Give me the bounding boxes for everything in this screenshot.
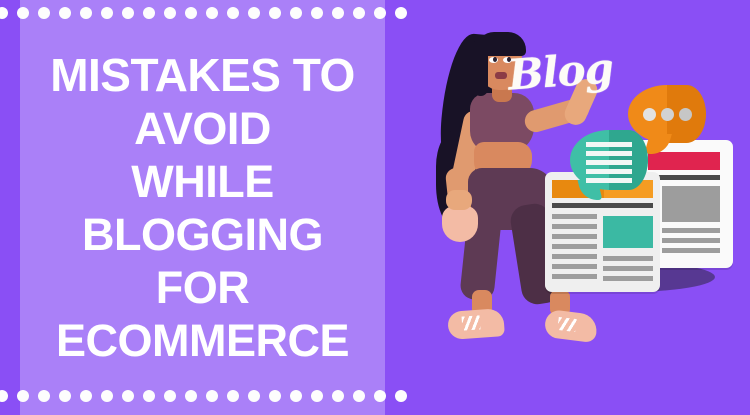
front-card-image-block [603,216,653,248]
border-dot [311,7,323,19]
border-dot [17,7,29,19]
border-dot [101,390,113,402]
headline-text-block: MISTAKES TO AVOID WHILE BLOGGING FOR ECO… [20,0,385,415]
headline-line-1: MISTAKES TO [50,49,355,102]
mouth [495,72,507,79]
border-dot [185,390,197,402]
blog-script-word: Blog [506,43,614,99]
headline-line-6: ECOMMERCE [56,314,349,367]
front-card-text-line [603,256,653,261]
border-dot [122,7,134,19]
front-card-text-line [603,276,653,281]
border-dot [206,7,218,19]
border-dot [248,7,260,19]
front-card-text-line [603,266,653,271]
border-dot [143,390,155,402]
border-dot [122,390,134,402]
border-dot [38,390,50,402]
border-dot [59,390,71,402]
front-card-text-line [552,254,597,259]
border-dot [374,390,386,402]
border-dot [290,7,302,19]
front-card-text-line [552,244,597,249]
front-card-text-line [552,214,597,219]
border-dot [185,7,197,19]
border-dot [164,390,176,402]
border-dot [17,390,29,402]
back-card-header [648,152,720,170]
border-dot [227,7,239,19]
teal-bubble-text-line [586,142,632,147]
back-card-image-block [662,186,720,222]
border-dot [269,7,281,19]
border-dot [143,7,155,19]
illustration: Blog [400,0,750,415]
border-dot [38,7,50,19]
border-dot [80,390,92,402]
headline-line-4: BLOGGING [82,208,323,261]
border-dot [80,7,92,19]
border-dot [0,7,8,19]
border-dot [395,7,407,19]
border-dot [269,390,281,402]
back-card-text-line [662,238,720,243]
front-card-text-line [552,274,597,279]
typing-dot [661,108,674,121]
back-card-text-line [662,248,720,253]
border-dot [353,390,365,402]
typing-dot [679,108,692,121]
shoe-right-stripes [557,317,576,332]
teal-bubble-text-line [586,151,632,156]
border-dot [0,390,8,402]
kettlebell-body [442,206,478,242]
border-dot [395,390,407,402]
pupil-left [493,57,497,62]
shoe-left-stripes [462,315,481,330]
border-dot [311,390,323,402]
border-dot [290,390,302,402]
headline-line-3: WHILE [131,155,273,208]
teal-bubble-text-line [586,178,632,183]
border-dot [206,390,218,402]
front-card-text-line [552,234,597,239]
border-dot [248,390,260,402]
border-dot [353,7,365,19]
border-dot [227,390,239,402]
headline-line-2: AVOID [134,102,271,155]
border-dot [332,7,344,19]
border-dot [332,390,344,402]
poster-canvas: Blog [0,0,750,415]
teal-bubble-text-line [586,160,632,165]
hair-side [472,40,488,96]
border-dot [101,7,113,19]
hand-left [446,190,472,210]
headline-line-5: FOR [156,261,250,314]
front-card-text-line [552,224,597,229]
border-dot [59,7,71,19]
front-card-rule [552,203,653,208]
dotted-border-top [0,7,411,21]
teal-bubble-text-line [586,169,632,174]
border-dot [164,7,176,19]
border-dot [374,7,386,19]
typing-dot [643,108,656,121]
front-card-text-line [552,264,597,269]
dotted-border-bottom [0,390,411,404]
back-card-text-line [662,228,720,233]
